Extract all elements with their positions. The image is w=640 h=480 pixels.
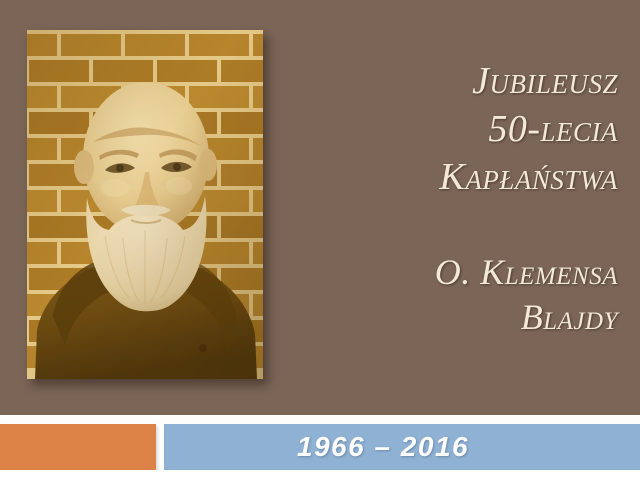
title-line-o-klemensa: O. Klemensa [246,250,618,295]
presentation-slide: Jubileusz 50-lecia Kapłaństwa O. Klemens… [0,0,640,480]
title-line-kaplanstwa: Kapłaństwa [246,154,618,202]
portrait-photo[interactable] [27,30,263,379]
footer-date-bar: 1966 – 2016 [164,424,640,470]
friar-portrait-illustration [27,30,263,379]
portrait-photo-image [27,30,263,379]
date-range-label: 1966 – 2016 [297,431,469,463]
title-line-jubileusz: Jubileusz [246,58,618,106]
footer-separator [0,415,640,424]
slide-bottom-margin [0,470,640,480]
title-line-blajdy: Blajdy [246,295,618,340]
slide-title-primary: Jubileusz 50-lecia Kapłaństwa [246,58,618,202]
footer-accent-block [0,424,156,470]
title-line-50-lecia: 50-lecia [246,106,618,154]
slide-title-secondary: O. Klemensa Blajdy [246,250,618,341]
